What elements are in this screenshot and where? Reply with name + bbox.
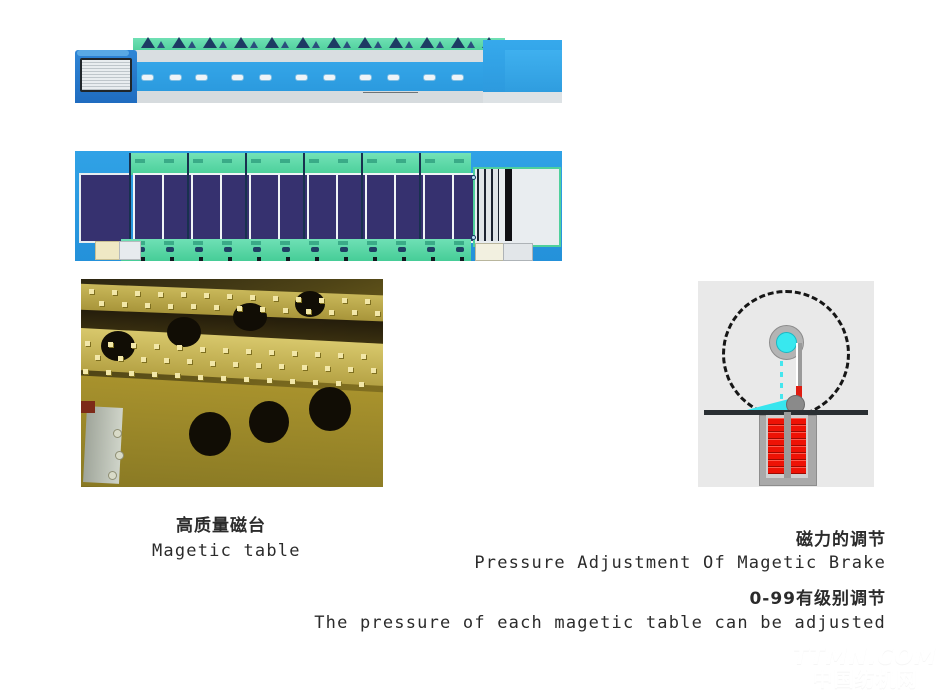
machine-bed-label-top <box>396 159 406 163</box>
table-stud <box>158 292 163 297</box>
table-stud <box>129 371 134 376</box>
machine-needle-peak <box>234 37 248 48</box>
table-stud <box>296 297 301 302</box>
machine-bed-first-panel <box>79 173 131 243</box>
caption-right-chinese-range: 0-99有级别调节 <box>749 584 886 609</box>
caption-right-english-note: The pressure of each magetic table can b… <box>314 613 886 633</box>
machine-bed-label-top <box>338 159 348 163</box>
machine-bed-label-top <box>251 159 261 163</box>
table-stud <box>302 365 307 370</box>
table-stud <box>122 302 127 307</box>
table-stud <box>359 382 364 387</box>
machine-bed-label <box>309 241 319 245</box>
machine-rail-slot <box>195 74 208 81</box>
table-stud <box>256 363 261 368</box>
table-stud <box>319 298 324 303</box>
table-stud <box>83 369 88 374</box>
machine-needle-peak-small <box>250 41 258 48</box>
table-stud <box>135 291 140 296</box>
table-stud <box>106 370 111 375</box>
table-stud <box>237 306 242 311</box>
machine-bed-label <box>396 241 406 245</box>
machine-bed-cell <box>249 173 280 243</box>
table-stud <box>269 350 274 355</box>
machine-rail-slot <box>141 74 154 81</box>
caption-left-english: Magetic table <box>152 541 301 561</box>
brake-thread-line <box>780 361 783 407</box>
caption-right-chinese-title: 磁力的调节 <box>796 525 886 550</box>
table-stud <box>210 361 215 366</box>
table-stud <box>112 290 117 295</box>
machine-bed-knob <box>282 247 290 252</box>
table-screw-2 <box>115 451 124 460</box>
magnetic-table-closeup-photo <box>81 279 383 487</box>
machine-bed-knob <box>427 247 435 252</box>
machine-needle-peak <box>420 37 434 48</box>
machine-needle-peak-small <box>436 41 444 48</box>
machine-needle-peak-small <box>281 41 289 48</box>
machine-bed-foot-mark <box>315 257 319 261</box>
table-stud <box>187 359 192 364</box>
machine-bed-dot-top <box>471 175 476 180</box>
table-stud <box>85 341 90 346</box>
machine-bed-knob <box>224 247 232 252</box>
table-stud <box>214 305 219 310</box>
machine-needle-peak <box>141 37 155 48</box>
machine-needle-peak <box>296 37 310 48</box>
machine-needle-peak-small <box>188 41 196 48</box>
machine-bed-label <box>222 241 232 245</box>
table-stud <box>152 372 157 377</box>
machine-bed-cell <box>133 173 164 243</box>
machine-head-top-edge <box>77 50 129 56</box>
machine-needle-peak-small <box>467 41 475 48</box>
machine-bed-label-top <box>309 159 319 163</box>
machine-bed-cell <box>365 173 396 243</box>
machine-control-head <box>75 50 137 103</box>
machine-right-end-block-inner <box>505 50 562 92</box>
machine-needle-peaks <box>133 36 505 50</box>
table-stud <box>315 352 320 357</box>
machine-rail-slot <box>169 74 182 81</box>
machine-bed-knob <box>166 247 174 252</box>
caption-left-chinese: 高质量磁台 <box>176 511 266 536</box>
machine-needle-peak-small <box>157 41 165 48</box>
table-hole <box>249 401 289 443</box>
machine-bed-foot-mark <box>286 257 290 261</box>
machine-needle-peak <box>358 37 372 48</box>
machine-needle-peak-small <box>405 41 413 48</box>
machine-bed-knob <box>398 247 406 252</box>
table-stud <box>198 375 203 380</box>
machine-rail-slot <box>259 74 272 81</box>
machine-upper-rail <box>75 36 562 121</box>
watermark-english: TTMN.COM <box>790 646 940 669</box>
machine-bed-label <box>193 241 203 245</box>
machine-needle-peak <box>172 37 186 48</box>
table-hole <box>189 412 231 456</box>
machine-bed-label <box>425 241 435 245</box>
machine-bed-right-line-group <box>477 169 499 241</box>
machine-bed-label-top <box>164 159 174 163</box>
table-stud <box>244 377 249 382</box>
site-watermark: TTMN.COM 中国纺机网 <box>790 646 940 696</box>
machine-bed-label-top <box>454 159 464 163</box>
machine-bed-knob <box>253 247 261 252</box>
machine-bed-cell <box>307 173 338 243</box>
table-side-bracket <box>83 406 123 484</box>
table-stud <box>375 311 380 316</box>
table-stud <box>329 310 334 315</box>
slide-canvas: 高质量磁台 Magetic table 磁力的调节 Pressure Adjus… <box>0 0 946 698</box>
machine-needle-peak-small <box>312 41 320 48</box>
embroidery-machine-photo <box>75 36 562 261</box>
brake-pulley-inner <box>776 332 797 353</box>
table-stud <box>342 298 347 303</box>
table-stud <box>227 294 232 299</box>
machine-rail-slot <box>423 74 436 81</box>
machine-bed-label <box>280 241 290 245</box>
machine-rail-slot <box>451 74 464 81</box>
machine-bed-foot-mark <box>431 257 435 261</box>
machine-needle-peak-small <box>219 41 227 48</box>
table-stud <box>145 303 150 308</box>
table-stud <box>233 362 238 367</box>
table-screw-3 <box>108 471 117 480</box>
table-stud <box>164 358 169 363</box>
table-stud <box>338 353 343 358</box>
machine-bed-label <box>164 241 174 245</box>
table-stud <box>371 368 376 373</box>
machine-bed-cell <box>423 173 454 243</box>
machine-bed-foot-mark <box>228 257 232 261</box>
table-stud <box>361 354 366 359</box>
machine-bed-label <box>454 241 464 245</box>
machine-upper-blue-bar <box>133 62 513 92</box>
machine-needle-peak <box>451 37 465 48</box>
machine-bed-foot-mark <box>170 257 174 261</box>
table-stud <box>260 307 265 312</box>
table-stud <box>336 381 341 386</box>
table-stud <box>181 292 186 297</box>
machine-bed-left-pad-2 <box>119 241 141 260</box>
table-stud <box>89 289 94 294</box>
table-stud <box>200 347 205 352</box>
table-stud <box>290 379 295 384</box>
table-stud <box>283 308 288 313</box>
machine-bed-label-top <box>193 159 203 163</box>
table-stud <box>108 342 113 347</box>
caption-right-english-title: Pressure Adjustment Of Magetic Brake <box>474 553 886 573</box>
machine-rail-slot <box>231 74 244 81</box>
table-stud <box>118 356 123 361</box>
machine-bed-cell <box>191 173 222 243</box>
machine-bed-knob <box>340 247 348 252</box>
machine-needle-peak <box>327 37 341 48</box>
machine-needle-peak-small <box>343 41 351 48</box>
table-stud <box>168 304 173 309</box>
machine-bed-right-dark-bar <box>505 169 512 241</box>
table-stud <box>250 295 255 300</box>
machine-bed-label <box>367 241 377 245</box>
machine-rail-slot <box>387 74 400 81</box>
machine-needle-peak <box>203 37 217 48</box>
table-stud <box>141 357 146 362</box>
table-stud <box>365 299 370 304</box>
machine-bed-knob <box>456 247 464 252</box>
machine-rail-slot <box>323 74 336 81</box>
machine-bed-foot-mark <box>402 257 406 261</box>
table-stud <box>292 351 297 356</box>
machine-bed-right-bottom-pad-2 <box>503 243 533 261</box>
watermark-chinese: 中国纺机网 <box>790 669 940 690</box>
machine-rail-slot <box>359 74 372 81</box>
table-stud <box>95 355 100 360</box>
brake-coil-stem <box>784 412 791 478</box>
table-stud <box>313 380 318 385</box>
magnetic-brake-diagram <box>698 281 874 487</box>
machine-bed-label-top <box>280 159 290 163</box>
table-stud <box>191 304 196 309</box>
table-red-fragment <box>81 401 95 413</box>
machine-bed-label <box>251 241 261 245</box>
machine-bed-label-top <box>135 159 145 163</box>
machine-bed-knob <box>311 247 319 252</box>
machine-needle-peak <box>265 37 279 48</box>
machine-bed-foot-mark <box>373 257 377 261</box>
machine-right-end-strip <box>483 92 562 103</box>
machine-lower-bed <box>75 151 562 261</box>
machine-upper-lower-strip <box>133 91 513 103</box>
table-stud <box>306 309 311 314</box>
machine-bed-foot-mark <box>141 257 145 261</box>
machine-control-screen <box>80 58 132 92</box>
machine-bed-knob <box>195 247 203 252</box>
machine-bed-foot-mark <box>344 257 348 261</box>
table-stud <box>99 301 104 306</box>
table-stud <box>352 310 357 315</box>
machine-upper-underline <box>363 92 418 93</box>
machine-bed-dot-bottom <box>471 235 476 240</box>
table-stud <box>221 376 226 381</box>
table-stud <box>267 378 272 383</box>
machine-bed-label-top <box>222 159 232 163</box>
table-screw-1 <box>113 429 122 438</box>
table-stud <box>204 293 209 298</box>
machine-bed-label-top <box>367 159 377 163</box>
machine-bed-left-pad <box>95 241 121 260</box>
table-stud <box>325 366 330 371</box>
table-stud <box>175 373 180 378</box>
table-stud <box>348 367 353 372</box>
table-stud <box>154 344 159 349</box>
table-stud <box>279 364 284 369</box>
table-stud <box>131 343 136 348</box>
table-stud <box>223 348 228 353</box>
machine-bed-foot-mark <box>199 257 203 261</box>
machine-bed-foot-mark <box>257 257 261 261</box>
machine-bed-label-top <box>425 159 435 163</box>
machine-needle-peak-small <box>374 41 382 48</box>
machine-bed-knob <box>369 247 377 252</box>
table-hole <box>309 387 351 431</box>
machine-needle-peak <box>389 37 403 48</box>
table-stud <box>273 296 278 301</box>
machine-bed-label <box>338 241 348 245</box>
machine-rail-slot <box>295 74 308 81</box>
machine-bed-foot-mark <box>460 257 464 261</box>
table-stud <box>177 345 182 350</box>
table-stud <box>246 349 251 354</box>
table-hole <box>167 317 201 347</box>
